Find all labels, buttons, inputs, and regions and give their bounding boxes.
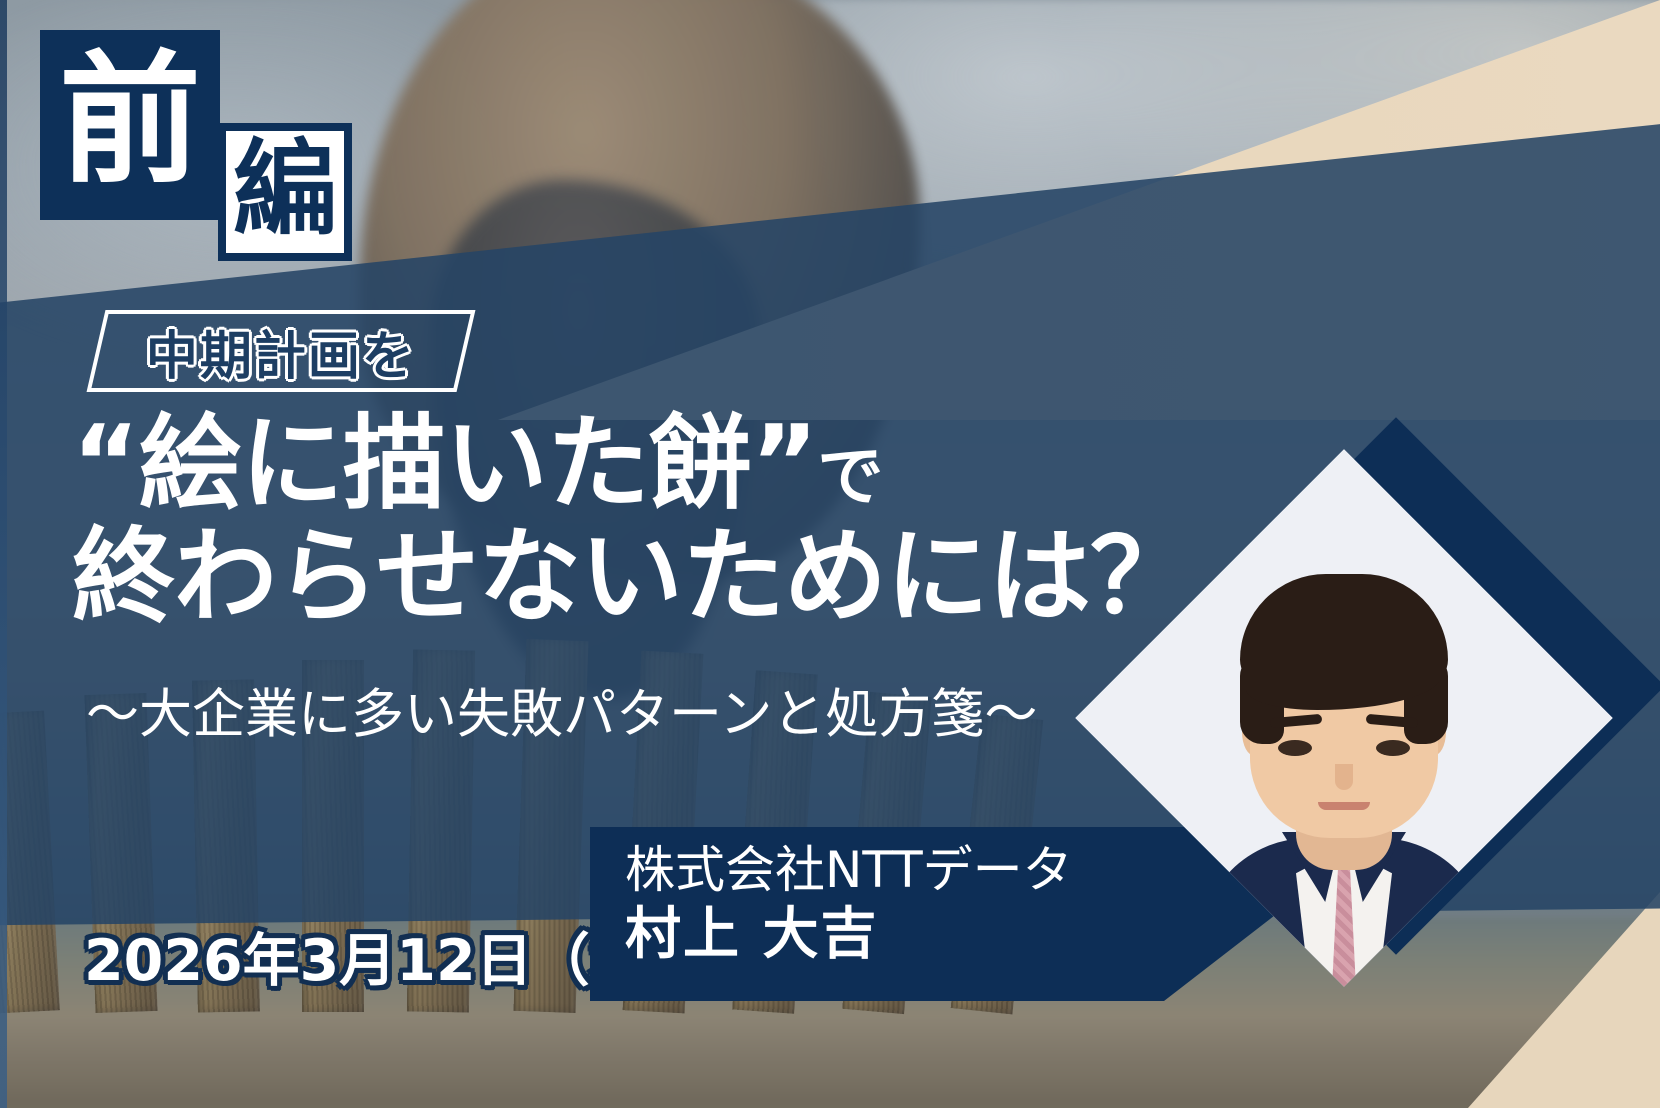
kicker-badge: 中期計画を xyxy=(87,310,476,392)
portrait-diamond-frame xyxy=(1075,449,1612,986)
portrait-nose xyxy=(1335,764,1353,790)
part-badge-filled: 前 xyxy=(40,30,220,220)
left-edge-accent xyxy=(0,0,7,1108)
part-badge: 前 編 xyxy=(40,30,360,250)
headline-line-2: 終わらせないためには？ xyxy=(72,523,1102,632)
part-badge-filled-label: 前 xyxy=(59,50,201,192)
portrait-eye-right xyxy=(1376,740,1410,756)
headline-line-1: “絵に描いた餅”で xyxy=(72,410,1102,519)
portrait-eye-left xyxy=(1278,740,1312,756)
part-badge-outlined-label: 編 xyxy=(233,137,337,241)
kicker-label: 中期計画を xyxy=(146,314,416,389)
seminar-banner: 前 編 中期計画を “絵に描いた餅”で 終わらせないためには？ 〜大企業に多い失… xyxy=(0,0,1660,1108)
headline-line-1-suffix: で xyxy=(817,438,882,515)
portrait-mouth xyxy=(1318,802,1370,810)
speaker-portrait xyxy=(1120,470,1600,1030)
headline-block: “絵に描いた餅”で 終わらせないためには？ xyxy=(72,410,1102,632)
headline-line-1-main: “絵に描いた餅” xyxy=(72,404,817,524)
portrait-image xyxy=(1075,449,1612,986)
headline-subtitle: 〜大企業に多い失敗パターンと処方箋〜 xyxy=(86,672,1126,748)
part-badge-outlined: 編 xyxy=(218,123,352,261)
